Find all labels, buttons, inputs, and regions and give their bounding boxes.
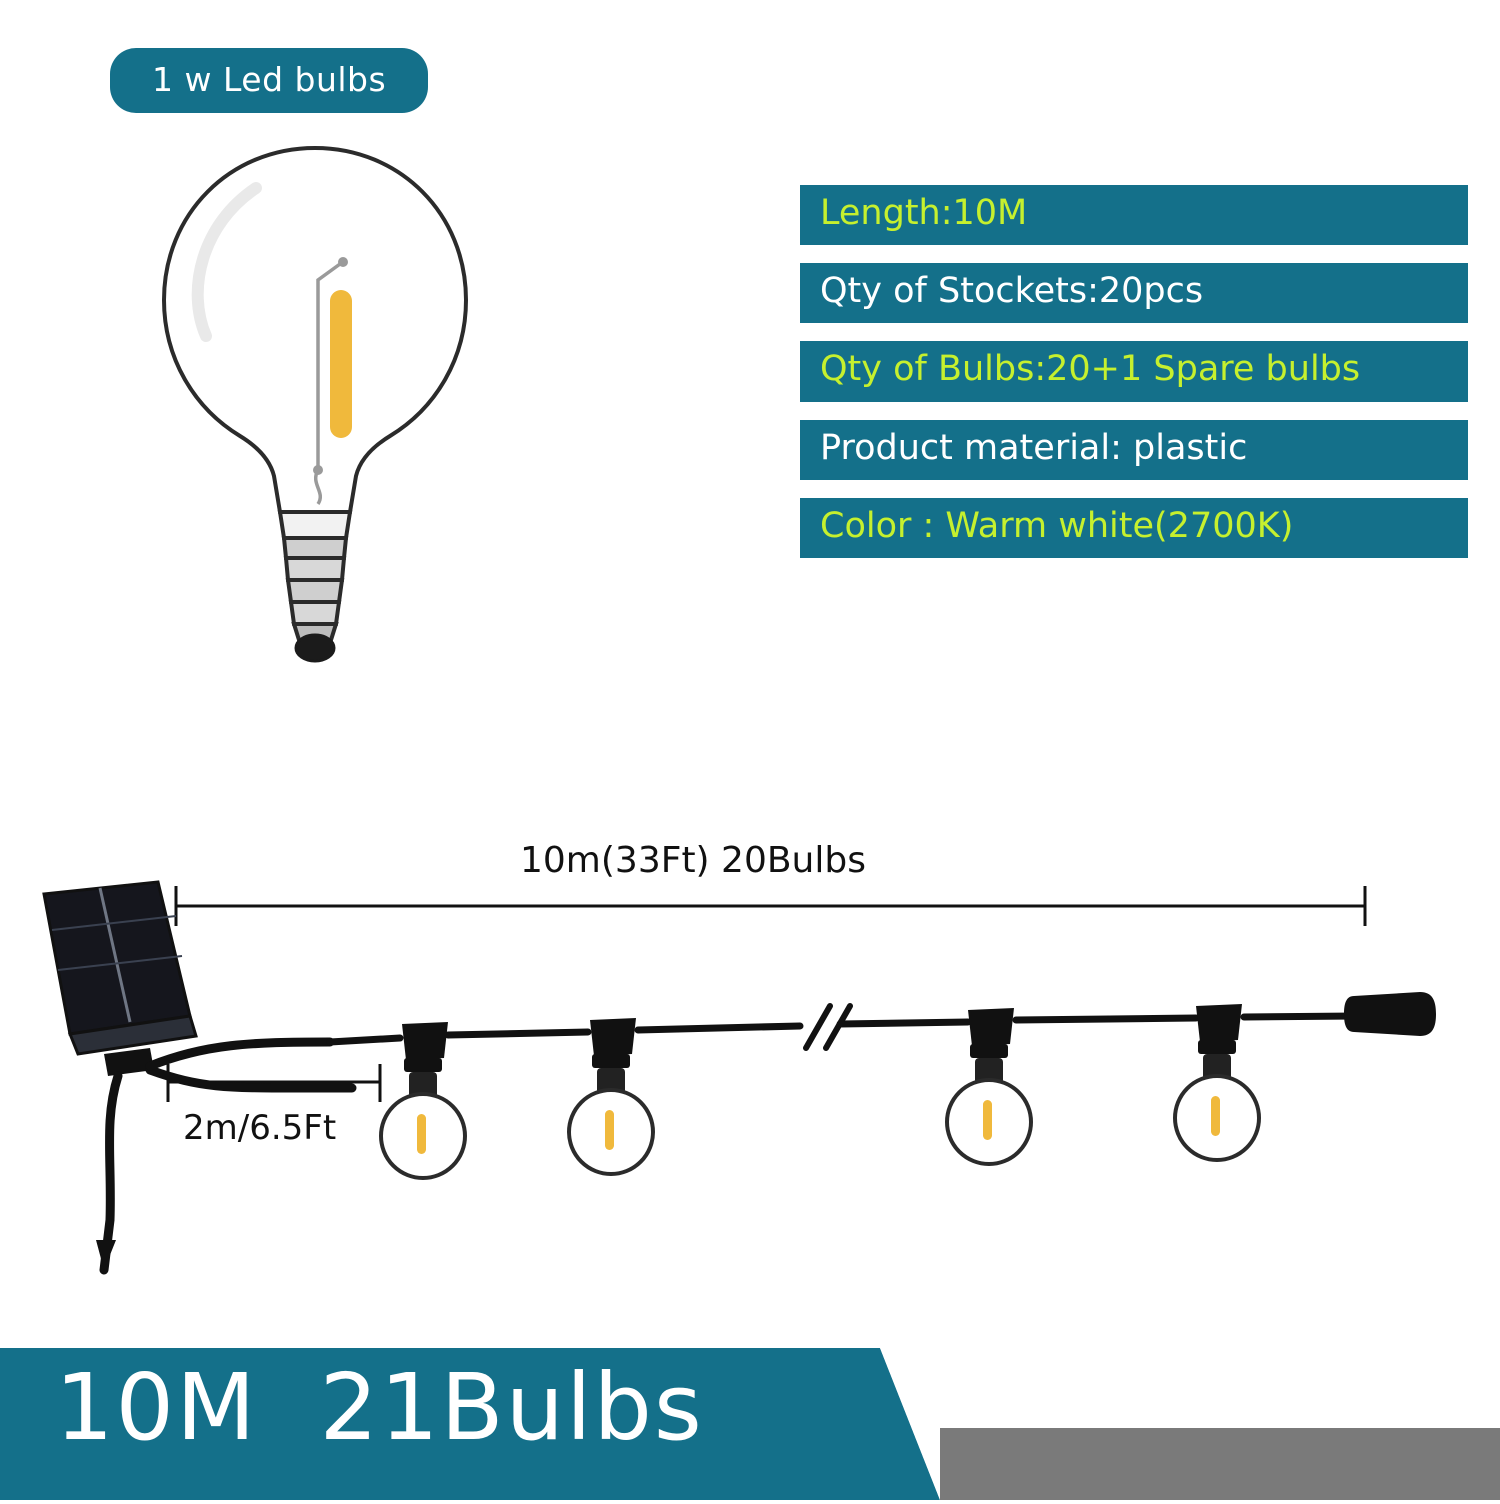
banner-length: 10M — [55, 1354, 257, 1461]
lead-length-label: 2m/6.5Ft — [183, 1108, 336, 1148]
bulb-screw-base — [284, 538, 346, 661]
banner-text: 10M21Bulbs — [55, 1354, 704, 1461]
string-light-diagram: 10m(33Ft) 20Bulbs 2m/6.5Ft — [0, 820, 1500, 1320]
spec-row-sockets: Qty of Stockets:20pcs — [800, 263, 1468, 323]
banner-grey-shape — [940, 1428, 1500, 1500]
bottom-banner: 10M21Bulbs — [0, 1320, 1500, 1500]
spec-row-material: Product material: plastic — [800, 420, 1468, 480]
spec-text: Color : Warm white(2700K) — [820, 506, 1293, 546]
banner-bulbs: 21Bulbs — [319, 1354, 703, 1461]
specification-list: Length:10M Qty of Stockets:20pcs Qty of … — [800, 185, 1440, 576]
spec-text: Qty of Bulbs:20+1 Spare bulbs — [820, 349, 1360, 389]
spec-row-color: Color : Warm white(2700K) — [800, 498, 1468, 558]
solar-panel-with-ground-stake — [44, 882, 352, 1270]
led-filament — [330, 290, 352, 438]
total-length-dimension — [176, 886, 1365, 926]
end-connector — [1344, 992, 1436, 1036]
spec-row-bulbs: Qty of Bulbs:20+1 Spare bulbs — [800, 341, 1468, 401]
string-bulb-3 — [947, 1008, 1031, 1164]
product-title-text: 1 w Led bulbs — [152, 60, 386, 99]
string-bulb-2 — [569, 1018, 653, 1174]
total-length-label: 10m(33Ft) 20Bulbs — [520, 840, 866, 881]
spec-row-length: Length:10M — [800, 185, 1468, 245]
spec-text: Qty of Stockets:20pcs — [820, 271, 1203, 311]
product-title-badge: 1 w Led bulbs — [110, 48, 428, 113]
led-bulb-illustration — [150, 140, 480, 740]
string-bulb-1 — [381, 1022, 465, 1178]
string-bulb-4 — [1175, 1004, 1259, 1160]
filament-top-node — [338, 257, 348, 267]
bulb-neck — [280, 512, 350, 538]
spec-text: Product material: plastic — [820, 428, 1247, 468]
spec-text: Length:10M — [820, 193, 1027, 233]
bulb-base-tip — [296, 635, 334, 661]
